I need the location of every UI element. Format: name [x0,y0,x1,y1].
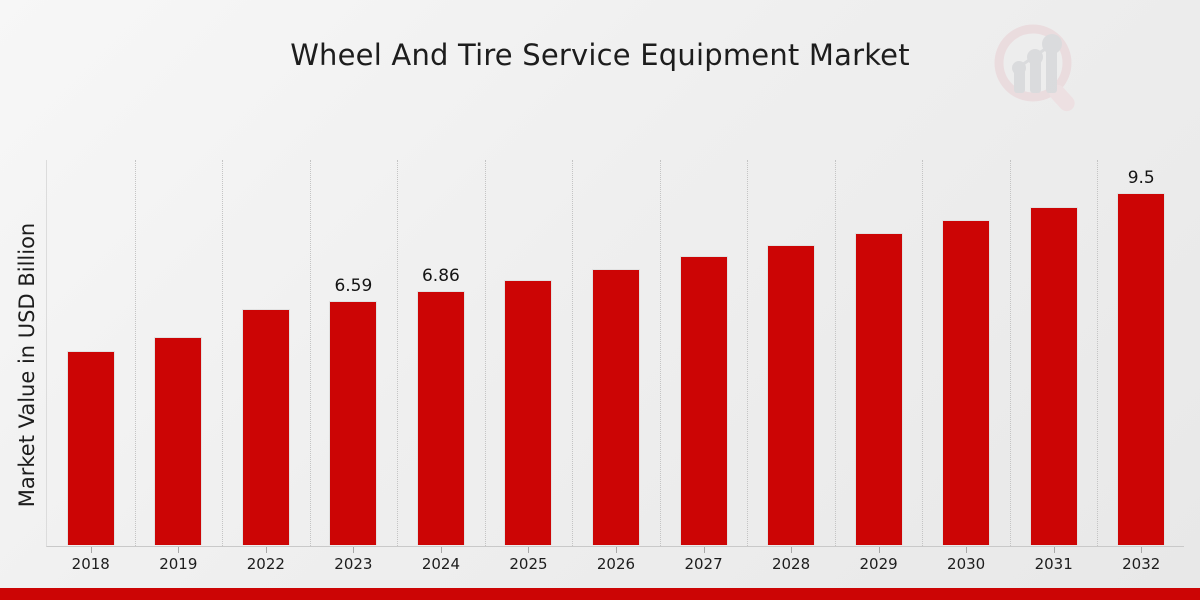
x-axis-tick-label: 2023 [310,555,398,573]
bar [592,269,640,545]
x-axis-tick-mark [266,547,267,553]
bar-group [135,159,223,545]
x-axis-tick-mark [178,547,179,553]
bar [767,245,815,545]
bar-value-label: 6.59 [310,276,398,296]
x-axis-tick-mark [966,547,967,553]
x-axis-tick-mark [441,547,442,553]
bar [242,309,290,545]
x-axis-tick-label: 2028 [747,555,835,573]
x-axis-tick-label: 2024 [397,555,485,573]
bar-group: 6.59 [310,159,398,545]
x-axis-tick-label: 2027 [660,555,748,573]
bar-group: 6.86 [397,159,485,545]
bar-group [660,159,748,545]
footer-accent-bar [0,588,1200,600]
x-axis-tick-label: 2025 [485,555,573,573]
x-axis-tick-mark [353,547,354,553]
bar-group [747,159,835,545]
bar [942,220,990,545]
bar [67,351,115,545]
x-axis-tick-label: 2029 [835,555,923,573]
bar-value-label: 9.5 [1097,168,1185,188]
bar-group [572,159,660,545]
x-axis-tick-mark [616,547,617,553]
bar-value-label: 6.86 [397,266,485,286]
x-axis-tick-mark [1054,547,1055,553]
x-axis-tick-label: 2026 [572,555,660,573]
bar [329,301,377,545]
bar-group [47,159,135,545]
x-axis-tick-label: 2032 [1097,555,1185,573]
bar-group [835,159,923,545]
x-axis-tick-mark [791,547,792,553]
bar [855,233,903,545]
x-axis-tick-mark [1141,547,1142,553]
y-axis-title: Market Value in USD Billion [15,115,39,615]
bar [680,256,728,545]
plot-area: 2018201920226.5920236.862024202520262027… [46,160,1184,547]
bar [154,337,202,545]
x-axis-tick-mark [879,547,880,553]
bar-group [485,159,573,545]
bar-group [922,159,1010,545]
bar-group: 9.5 [1097,159,1185,545]
bar [1030,207,1078,545]
bar [417,291,465,545]
x-axis-tick-label: 2018 [47,555,135,573]
chart-title: Wheel And Tire Service Equipment Market [0,38,1200,72]
x-axis-tick-label: 2022 [222,555,310,573]
chart-page: Wheel And Tire Service Equipment Market … [0,0,1200,600]
bar [504,280,552,545]
bar-group [222,159,310,545]
x-axis-tick-mark [528,547,529,553]
x-axis-tick-mark [91,547,92,553]
x-axis-tick-label: 2019 [135,555,223,573]
x-axis-tick-label: 2030 [922,555,1010,573]
bar-group [1010,159,1098,545]
x-axis-tick-mark [704,547,705,553]
bar [1117,193,1165,545]
x-axis-tick-label: 2031 [1010,555,1098,573]
